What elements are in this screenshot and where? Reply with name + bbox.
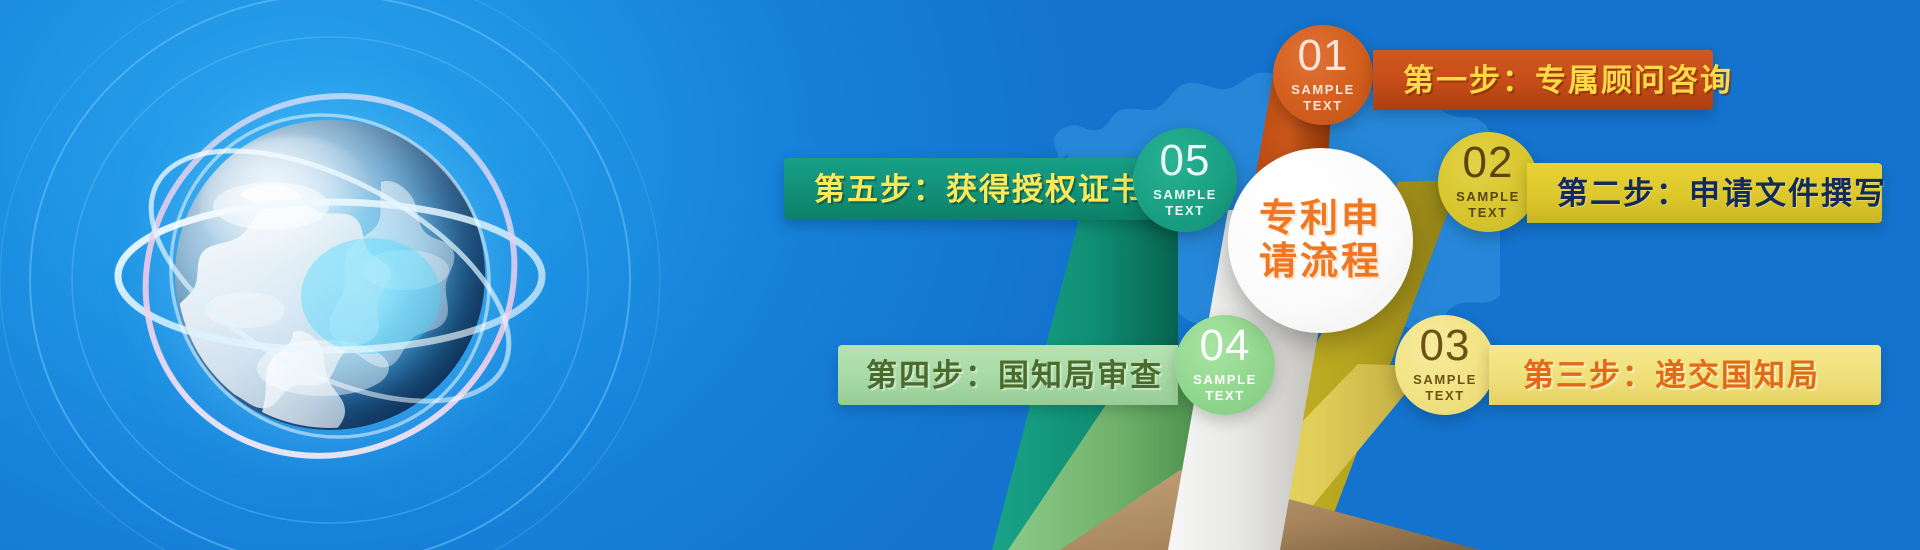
step-5-banner[interactable]: 第五步：获得授权证书 <box>784 158 1184 220</box>
center-title-disc: 专利申 请流程 <box>1228 148 1413 333</box>
step-1-number-disc[interactable]: 01 SAMPLE TEXT <box>1273 25 1373 125</box>
step-4-number-disc[interactable]: 04 SAMPLE TEXT <box>1175 315 1275 415</box>
step-1-sample-line1: SAMPLE <box>1291 82 1355 98</box>
step-5-sample-line1: SAMPLE <box>1153 187 1217 203</box>
center-title-line2: 请流程 <box>1259 241 1382 284</box>
step-2-number-disc[interactable]: 02 SAMPLE TEXT <box>1438 132 1538 232</box>
step-1-banner[interactable]: 第一步：专属顾问咨询 <box>1373 50 1713 110</box>
step-2-label: 第二步：申请文件撰写 <box>1557 178 1887 209</box>
step-3-number: 03 <box>1420 325 1471 367</box>
step-5-label: 第五步：获得授权证书 <box>814 174 1144 205</box>
step-3-label: 第三步：递交国知局 <box>1523 360 1820 391</box>
step-4-sample-line2: TEXT <box>1205 388 1245 404</box>
step-2-number: 02 <box>1463 142 1514 184</box>
globe-highlight <box>200 136 380 272</box>
step-2-sample-line1: SAMPLE <box>1456 189 1520 205</box>
step-5-number-disc[interactable]: 05 SAMPLE TEXT <box>1133 128 1237 232</box>
step-1-number: 01 <box>1298 35 1349 77</box>
step-4-banner[interactable]: 第四步：国知局审查 <box>838 345 1178 405</box>
step-2-sample-line2: TEXT <box>1468 205 1508 221</box>
step-3-number-disc[interactable]: 03 SAMPLE TEXT <box>1395 315 1495 415</box>
promo-banner: 第五步：获得授权证书 05 SAMPLE TEXT 第四步：国知局审查 04 S… <box>0 0 1920 550</box>
step-1-sample-line2: TEXT <box>1303 98 1343 114</box>
step-4-label: 第四步：国知局审查 <box>866 360 1163 391</box>
center-title-line1: 专利申 <box>1259 198 1382 241</box>
step-4-sample-line1: SAMPLE <box>1193 372 1257 388</box>
step-5-number: 05 <box>1160 140 1211 182</box>
step-3-sample-line1: SAMPLE <box>1413 372 1477 388</box>
step-3-sample-line2: TEXT <box>1425 388 1465 404</box>
globe-sphere <box>175 120 485 430</box>
step-2-banner[interactable]: 第二步：申请文件撰写 <box>1527 163 1882 223</box>
step-4-number: 04 <box>1200 325 1251 367</box>
patent-process-funnel: 第五步：获得授权证书 05 SAMPLE TEXT 第四步：国知局审查 04 S… <box>760 0 1920 550</box>
globe-illustration <box>175 120 485 430</box>
step-5-sample-line2: TEXT <box>1165 203 1205 219</box>
step-3-banner[interactable]: 第三步：递交国知局 <box>1489 345 1881 405</box>
step-1-label: 第一步：专属顾问咨询 <box>1403 65 1733 96</box>
